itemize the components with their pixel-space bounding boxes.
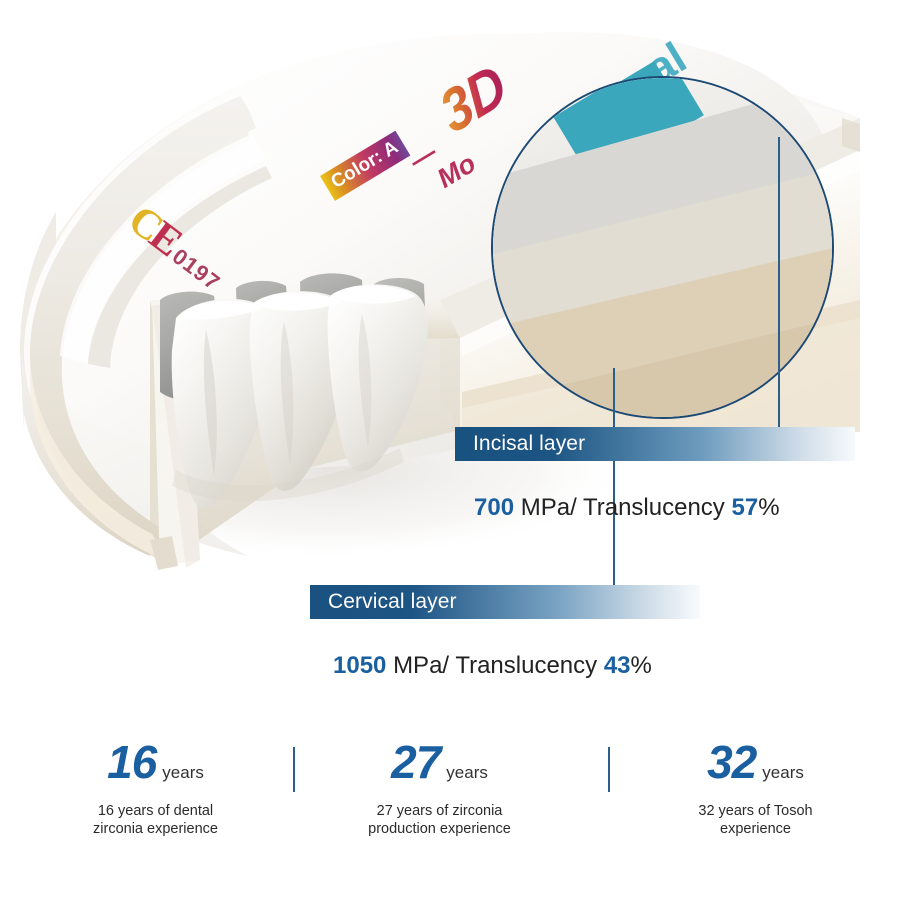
infographic-canvas: CE0197 3D — Mo Color: A al H <box>0 0 900 900</box>
stat-unit: years <box>162 763 204 782</box>
incisal-layer-label: Incisal layer <box>455 432 585 456</box>
magnifier-content <box>491 76 834 419</box>
stat-item-tosoh: 32years 32 years of Tosoh experience <box>638 735 873 838</box>
stat-number-row: 16years <box>38 735 273 789</box>
stat-unit: years <box>446 763 488 782</box>
edge-cross-section-magnifier <box>491 76 834 419</box>
incisal-translucency-unit: % <box>758 494 779 521</box>
incisal-translucency-label: Translucency <box>583 494 725 521</box>
cervical-translucency-unit: % <box>631 652 652 679</box>
stat-number: 32 <box>707 736 756 788</box>
incisal-strength-value: 700 <box>474 494 514 521</box>
stat-description: 27 years of zirconia production experien… <box>322 803 557 838</box>
stat-divider <box>608 747 610 792</box>
stat-unit: years <box>762 763 804 782</box>
incisal-strength-unit: MPa/ <box>521 494 577 521</box>
cervical-strength-unit: MPa/ <box>393 652 449 679</box>
stat-description: 16 years of dental zirconia experience <box>38 803 273 838</box>
stat-number: 16 <box>107 736 156 788</box>
stat-item-dental-zirconia: 16years 16 years of dental zirconia expe… <box>38 735 273 838</box>
cervical-strength-value: 1050 <box>333 652 386 679</box>
incisal-layer-band: Incisal layer <box>455 427 855 461</box>
cervical-translucency-value: 43 <box>604 652 631 679</box>
cervical-translucency-label: Translucency <box>455 652 597 679</box>
incisal-layer-spec: 700 MPa/ Translucency 57% <box>474 494 780 522</box>
incisal-translucency-value: 57 <box>731 494 758 521</box>
stat-item-zirconia-production: 27years 27 years of zirconia production … <box>322 735 557 838</box>
stat-description: 32 years of Tosoh experience <box>638 803 873 838</box>
stat-number-row: 32years <box>638 735 873 789</box>
stat-number-row: 27years <box>322 735 557 789</box>
stat-divider <box>293 747 295 792</box>
cervical-layer-label: Cervical layer <box>310 590 457 614</box>
leader-line-cervical <box>613 368 615 596</box>
cervical-layer-spec: 1050 MPa/ Translucency 43% <box>333 652 652 680</box>
experience-stats-row: 16years 16 years of dental zirconia expe… <box>0 735 900 860</box>
stat-number: 27 <box>391 736 440 788</box>
cervical-layer-band: Cervical layer <box>310 585 700 619</box>
leader-line-incisal <box>778 137 780 440</box>
